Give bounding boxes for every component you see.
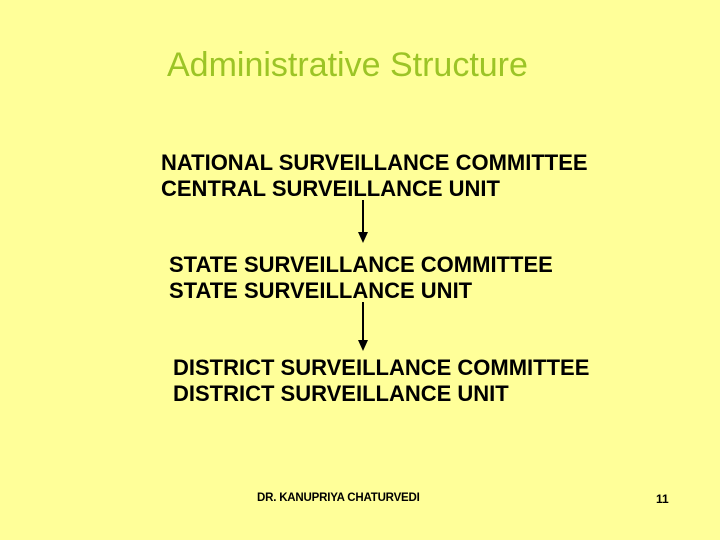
arrow-head [358,340,368,351]
arrow-shaft [362,200,364,234]
footer-author: DR. KANUPRIYA CHATURVEDI [257,492,420,504]
diagram-node-state: STATE SURVEILLANCE COMMITTEE STATE SURVE… [169,252,553,304]
diagram-node-national-line-2: CENTRAL SURVEILLANCE UNIT [161,176,588,202]
footer-page-number: 11 [656,492,669,506]
arrow-state-to-district-icon [356,302,370,352]
arrow-national-to-state-icon [356,200,370,244]
diagram-node-state-line-1: STATE SURVEILLANCE COMMITTEE [169,252,553,278]
slide-canvas: Administrative Structure NATIONAL SURVEI… [0,0,720,540]
arrow-head [358,232,368,243]
page-title: Administrative Structure [167,44,528,86]
diagram-node-national-line-1: NATIONAL SURVEILLANCE COMMITTEE [161,150,588,176]
arrow-shaft [362,302,364,342]
diagram-node-district-line-2: DISTRICT SURVEILLANCE UNIT [173,381,589,407]
diagram-node-state-line-2: STATE SURVEILLANCE UNIT [169,278,553,304]
diagram-node-national: NATIONAL SURVEILLANCE COMMITTEE CENTRAL … [161,150,588,202]
diagram-node-district-line-1: DISTRICT SURVEILLANCE COMMITTEE [173,355,589,381]
diagram-node-district: DISTRICT SURVEILLANCE COMMITTEE DISTRICT… [173,355,589,407]
